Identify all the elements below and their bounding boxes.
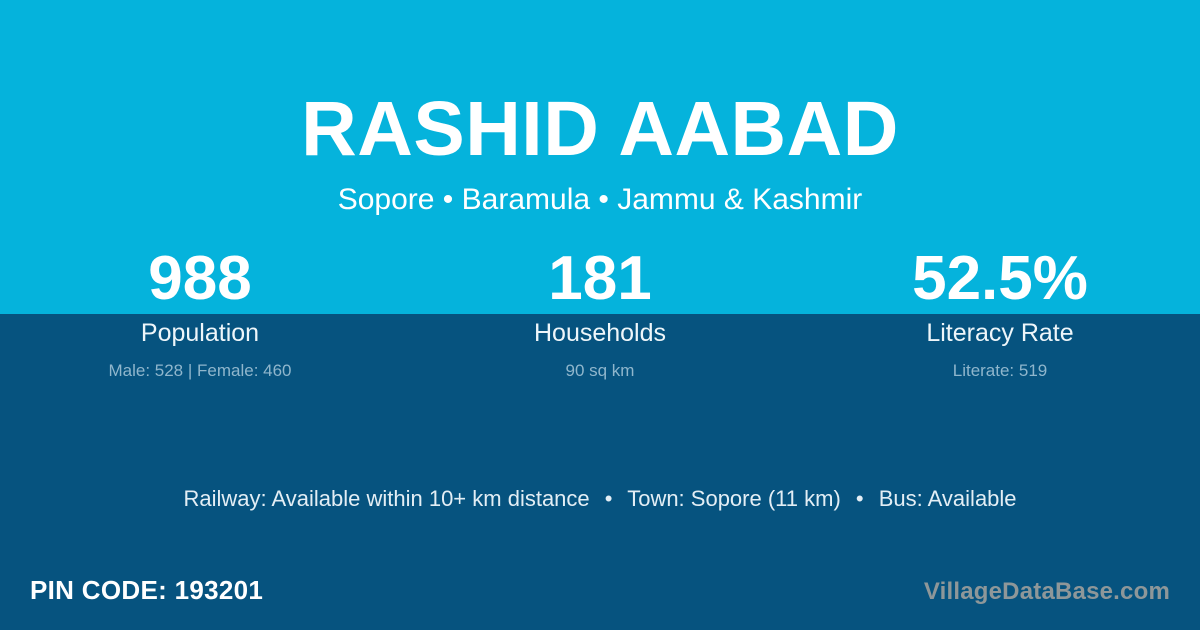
amenity-railway: Railway: Available within 10+ km distanc… [183,486,589,511]
stat-population: 988 Population Male: 528 | Female: 460 [0,246,400,382]
stat-literacy-rate-detail: Literate: 519 [800,348,1200,382]
breadcrumb: Sopore • Baramula • Jammu & Kashmir [0,181,1200,219]
stat-literacy-rate-label: Literacy Rate [800,314,1200,348]
stats-row: 988 Population Male: 528 | Female: 460 1… [0,246,1200,382]
page-title: RASHID AABAD [0,83,1200,175]
stat-households-label: Households [400,314,800,348]
village-info-card: RASHID AABAD Sopore • Baramula • Jammu &… [0,0,1200,630]
stat-population-value: 988 [0,246,400,314]
amenity-bus: Bus: Available [879,486,1017,511]
stat-households-detail: 90 sq km [400,348,800,382]
stat-population-label: Population [0,314,400,348]
stat-literacy-rate: 52.5% Literacy Rate Literate: 519 [800,246,1200,382]
amenity-separator-2: • [847,483,873,515]
site-brand: VillageDataBase.com [924,576,1170,608]
amenity-separator-1: • [596,483,622,515]
amenities-row: Railway: Available within 10+ km distanc… [0,483,1200,515]
stat-households: 181 Households 90 sq km [400,246,800,382]
amenity-town: Town: Sopore (11 km) [627,486,841,511]
pin-code: PIN CODE: 193201 [30,572,263,608]
stat-population-detail: Male: 528 | Female: 460 [0,348,400,382]
stat-households-value: 181 [400,246,800,314]
stat-literacy-rate-value: 52.5% [800,246,1200,314]
